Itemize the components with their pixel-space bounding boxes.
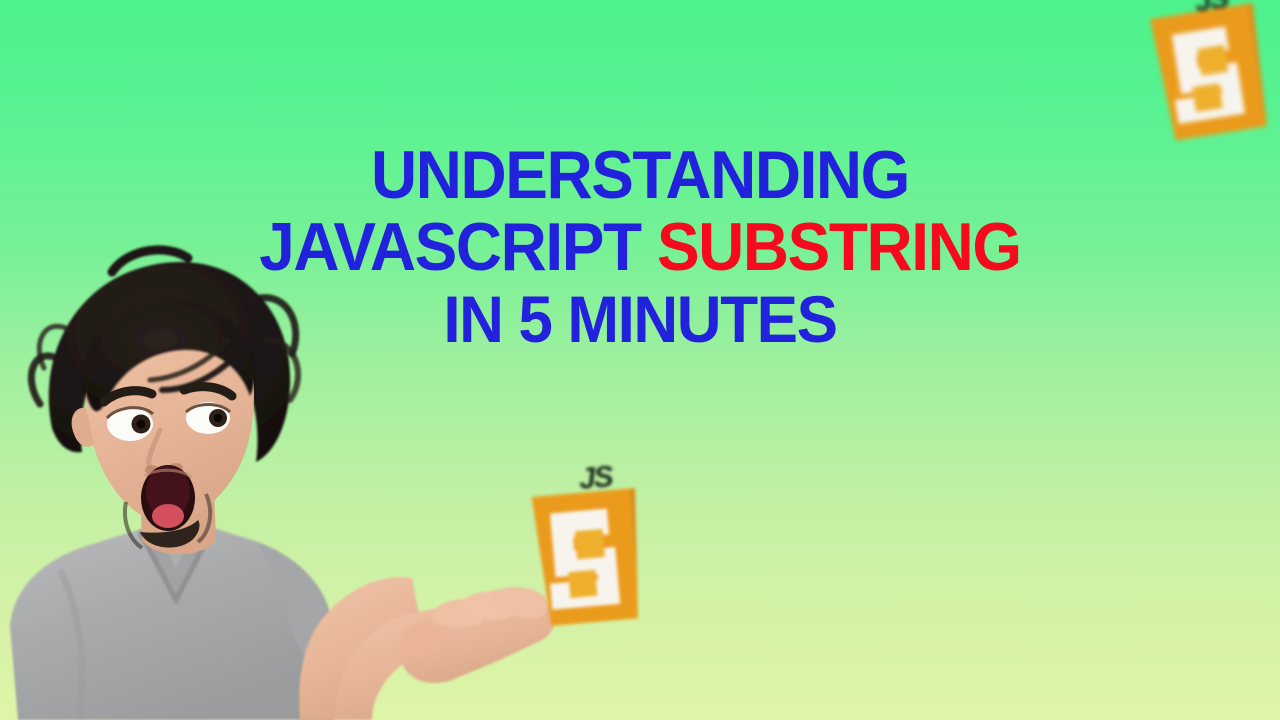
presenter-mouth bbox=[141, 465, 195, 531]
title-javascript-text: JAVASCRIPT bbox=[259, 209, 657, 285]
title-line-2: JAVASCRIPT SUBSTRING bbox=[38, 215, 1241, 281]
js-glyph-accent bbox=[575, 529, 605, 560]
js-glyph-accent bbox=[1193, 83, 1224, 112]
javascript-logo-in-hand: JS bbox=[521, 457, 663, 636]
thumbnail-title: UNDERSTANDING JAVASCRIPT SUBSTRING IN 5 … bbox=[0, 143, 1280, 351]
title-substring-highlight: SUBSTRING bbox=[657, 209, 1021, 285]
video-thumbnail: JS UNDERSTANDING JAVASCRIPT SUBSTRING IN… bbox=[0, 0, 1280, 720]
presenter-hand bbox=[399, 587, 554, 683]
js-glyph-accent bbox=[1197, 45, 1228, 76]
js-logo-shield bbox=[1150, 3, 1272, 142]
js-glyph-accent bbox=[568, 570, 598, 598]
title-line-1: UNDERSTANDING bbox=[38, 143, 1241, 209]
title-line-3: IN 5 MINUTES bbox=[38, 287, 1241, 351]
js-logo-tag-text: JS bbox=[578, 462, 613, 495]
js-logo-shield bbox=[530, 488, 647, 627]
javascript-logo-top-right: JS bbox=[1141, 0, 1280, 148]
